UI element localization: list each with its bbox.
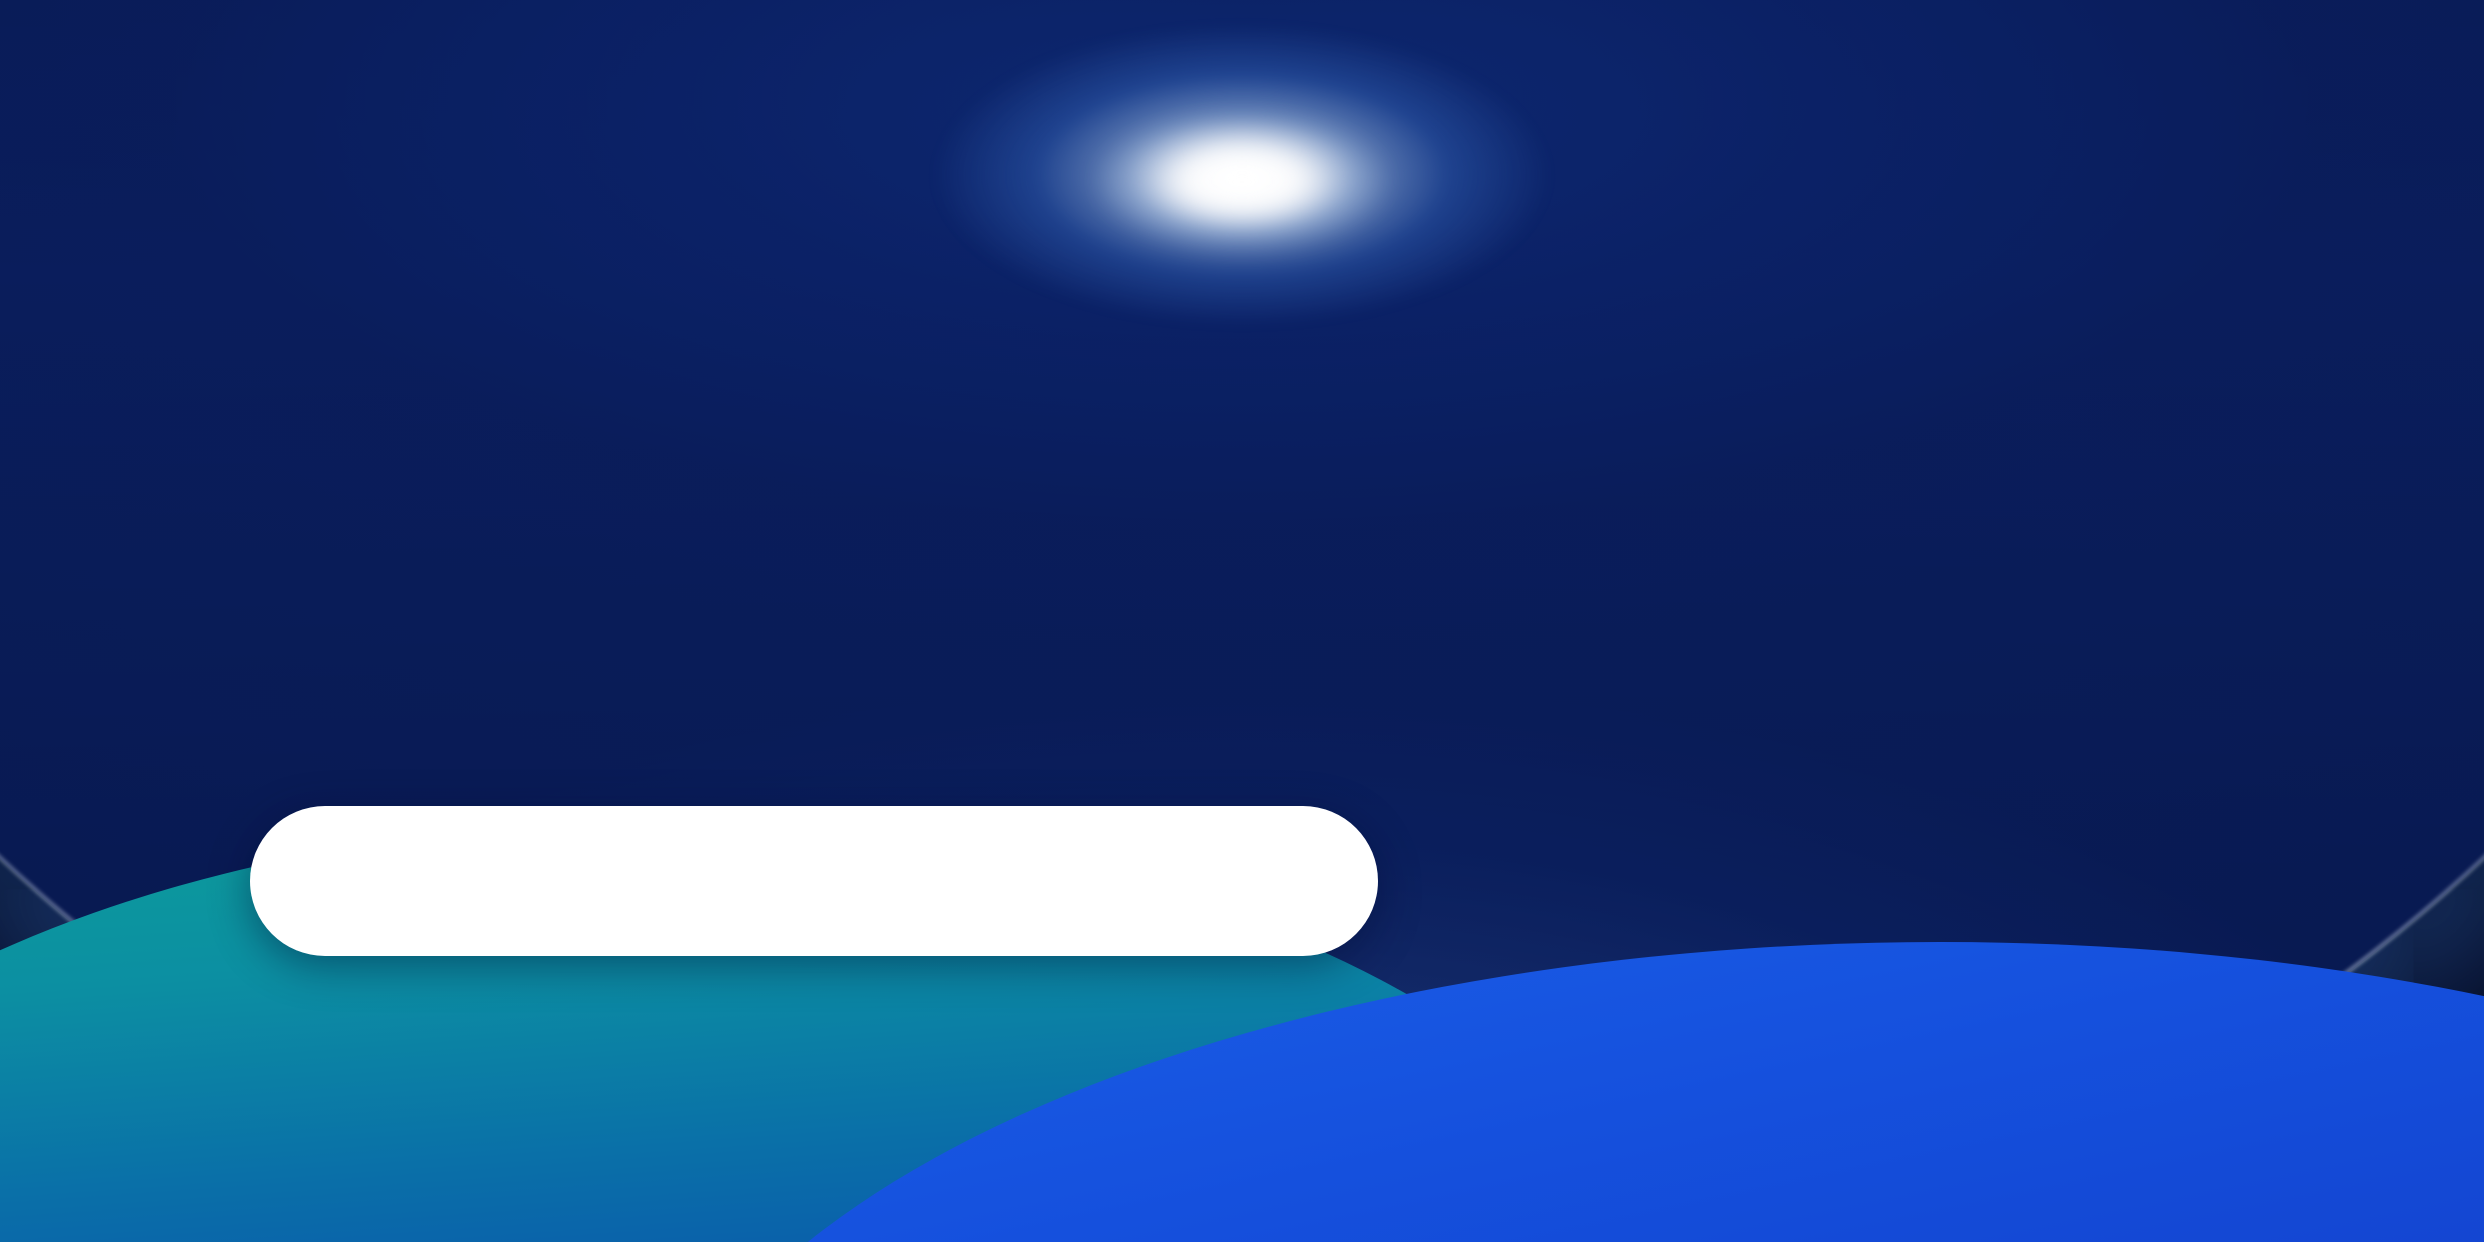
status-badge [250, 806, 1378, 956]
cover-canvas [0, 0, 2484, 1242]
bottom-wave-graphics [0, 682, 2484, 1242]
cyan-wireframe-mesh-overlay-icon [0, 682, 2484, 1242]
